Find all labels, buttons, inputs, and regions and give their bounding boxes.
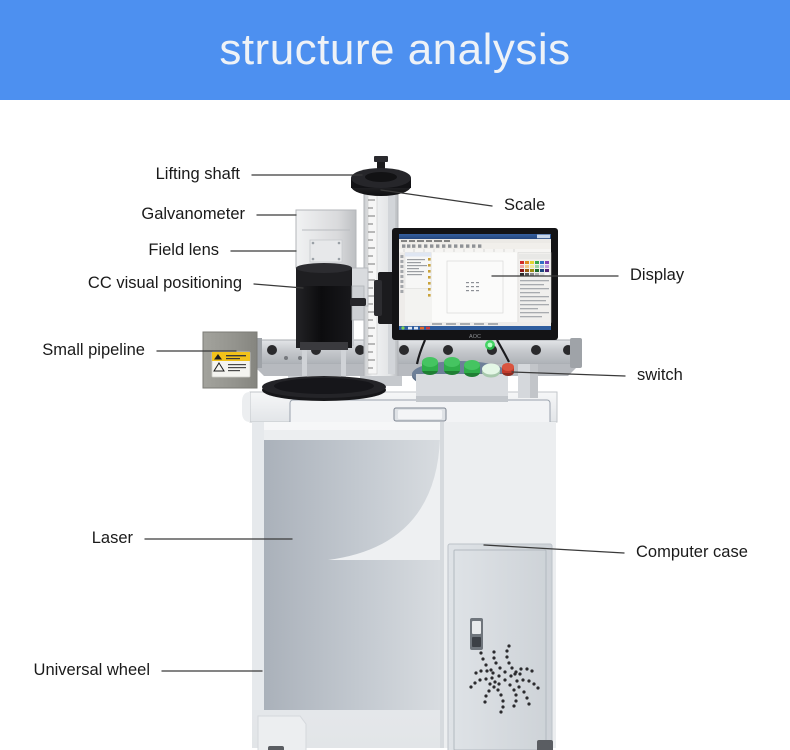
handwheel: [351, 156, 411, 196]
monitor-brand: AOC: [469, 334, 481, 340]
computer-case-door: [448, 544, 552, 750]
machine-illustration: AOC: [0, 100, 790, 750]
label-small-pipeline: Small pipeline: [0, 342, 157, 359]
label-lifting-shaft: Lifting shaft: [0, 166, 252, 183]
label-universal-wheel: Universal wheel: [0, 662, 162, 679]
small-pipeline-box: [203, 332, 257, 388]
page-title: structure analysis: [0, 0, 790, 100]
label-galvanometer: Galvanometer: [0, 206, 257, 223]
label-display: Display: [630, 267, 684, 284]
label-field-lens: Field lens: [0, 242, 231, 259]
diagram-stage: AOC: [0, 100, 790, 750]
label-switch: switch: [637, 367, 683, 384]
label-computer-case: Computer case: [636, 544, 748, 561]
universal-wheel-left: [254, 716, 306, 750]
label-cc-visual-positioning: CC visual positioning: [0, 275, 254, 292]
label-scale: Scale: [504, 197, 545, 214]
cabinet-assembly: [242, 392, 567, 750]
header-banner: structure analysis: [0, 0, 790, 100]
label-laser: Laser: [0, 530, 145, 547]
